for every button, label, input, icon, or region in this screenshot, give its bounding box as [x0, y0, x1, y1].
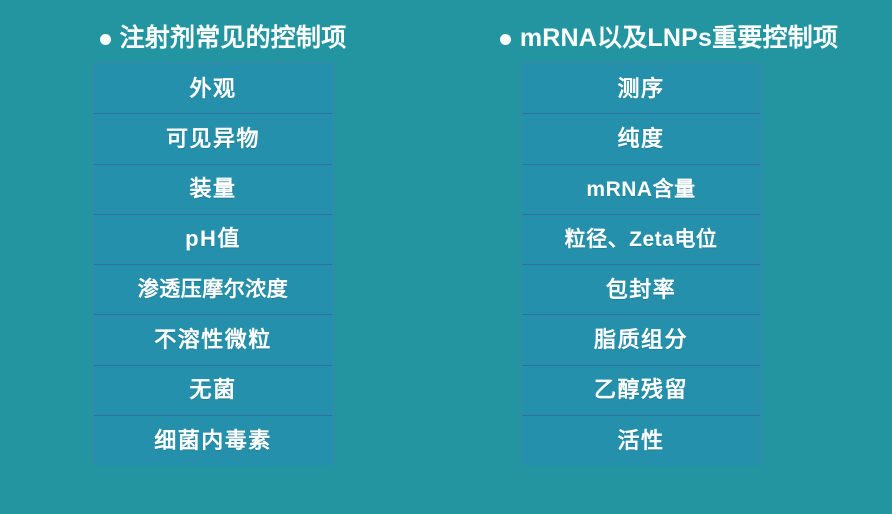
table-row[interactable]: 细菌内毒素 — [94, 416, 332, 466]
table-cell-label: 包封率 — [606, 279, 677, 301]
bullet-dot-icon — [100, 34, 111, 45]
table-row[interactable]: 无菌 — [94, 366, 332, 416]
column-injection-controls: 注射剂常见的控制项 外观 可见异物 装量 pH值 渗透压摩尔浓度 — [0, 0, 446, 514]
two-column-layout: 注射剂常见的控制项 外观 可见异物 装量 pH值 渗透压摩尔浓度 — [0, 0, 892, 514]
table-row[interactable]: 不溶性微粒 — [94, 315, 332, 365]
table-cell-label: 渗透压摩尔浓度 — [138, 279, 289, 300]
column-mrna-lnp-controls: mRNA以及LNPs重要控制项 测序 纯度 mRNA含量 粒径、Zeta电位 包… — [446, 0, 892, 514]
column-heading-left: 注射剂常见的控制项 — [0, 18, 446, 58]
table-cell-label: 不溶性微粒 — [154, 329, 272, 351]
table-row[interactable]: 粒径、Zeta电位 — [522, 215, 760, 265]
table-row[interactable]: 脂质组分 — [522, 315, 760, 365]
table-cell-label: 粒径、Zeta电位 — [565, 229, 718, 250]
table-cell-label: 测序 — [617, 78, 664, 100]
table-cell-label: mRNA含量 — [586, 179, 695, 200]
bullet-dot-icon — [500, 34, 511, 45]
table-row[interactable]: mRNA含量 — [522, 165, 760, 215]
table-cell-label: 装量 — [189, 178, 236, 200]
table-row[interactable]: 可见异物 — [94, 114, 332, 164]
table-row[interactable]: 纯度 — [522, 114, 760, 164]
table-row[interactable]: pH值 — [94, 215, 332, 265]
table-row[interactable]: 测序 — [522, 64, 760, 114]
table-cell-label: 无菌 — [189, 379, 236, 401]
table-row[interactable]: 乙醇残留 — [522, 366, 760, 416]
table-cell-label: 乙醇残留 — [594, 379, 688, 401]
table-row[interactable]: 包封率 — [522, 265, 760, 315]
table-cell-label: pH值 — [185, 228, 241, 250]
column-title-right: mRNA以及LNPs重要控制项 — [520, 26, 838, 51]
table-cell-label: 细菌内毒素 — [154, 430, 272, 452]
column-title-left: 注射剂常见的控制项 — [120, 26, 347, 51]
table-cell-label: 外观 — [189, 78, 236, 100]
table-row[interactable]: 渗透压摩尔浓度 — [94, 265, 332, 315]
control-items-table-left: 外观 可见异物 装量 pH值 渗透压摩尔浓度 不溶性微粒 无菌 — [93, 63, 333, 465]
table-row[interactable]: 装量 — [94, 165, 332, 215]
table-cell-label: 活性 — [617, 430, 664, 452]
slide-canvas: 注射剂常见的控制项 外观 可见异物 装量 pH值 渗透压摩尔浓度 — [0, 0, 892, 514]
table-cell-label: 纯度 — [617, 128, 664, 150]
table-cell-label: 脂质组分 — [594, 329, 688, 351]
control-items-table-right: 测序 纯度 mRNA含量 粒径、Zeta电位 包封率 脂质组分 — [521, 63, 761, 465]
table-cell-label: 可见异物 — [166, 128, 260, 150]
column-heading-right: mRNA以及LNPs重要控制项 — [446, 18, 892, 58]
table-row[interactable]: 活性 — [522, 416, 760, 466]
table-row[interactable]: 外观 — [94, 64, 332, 114]
